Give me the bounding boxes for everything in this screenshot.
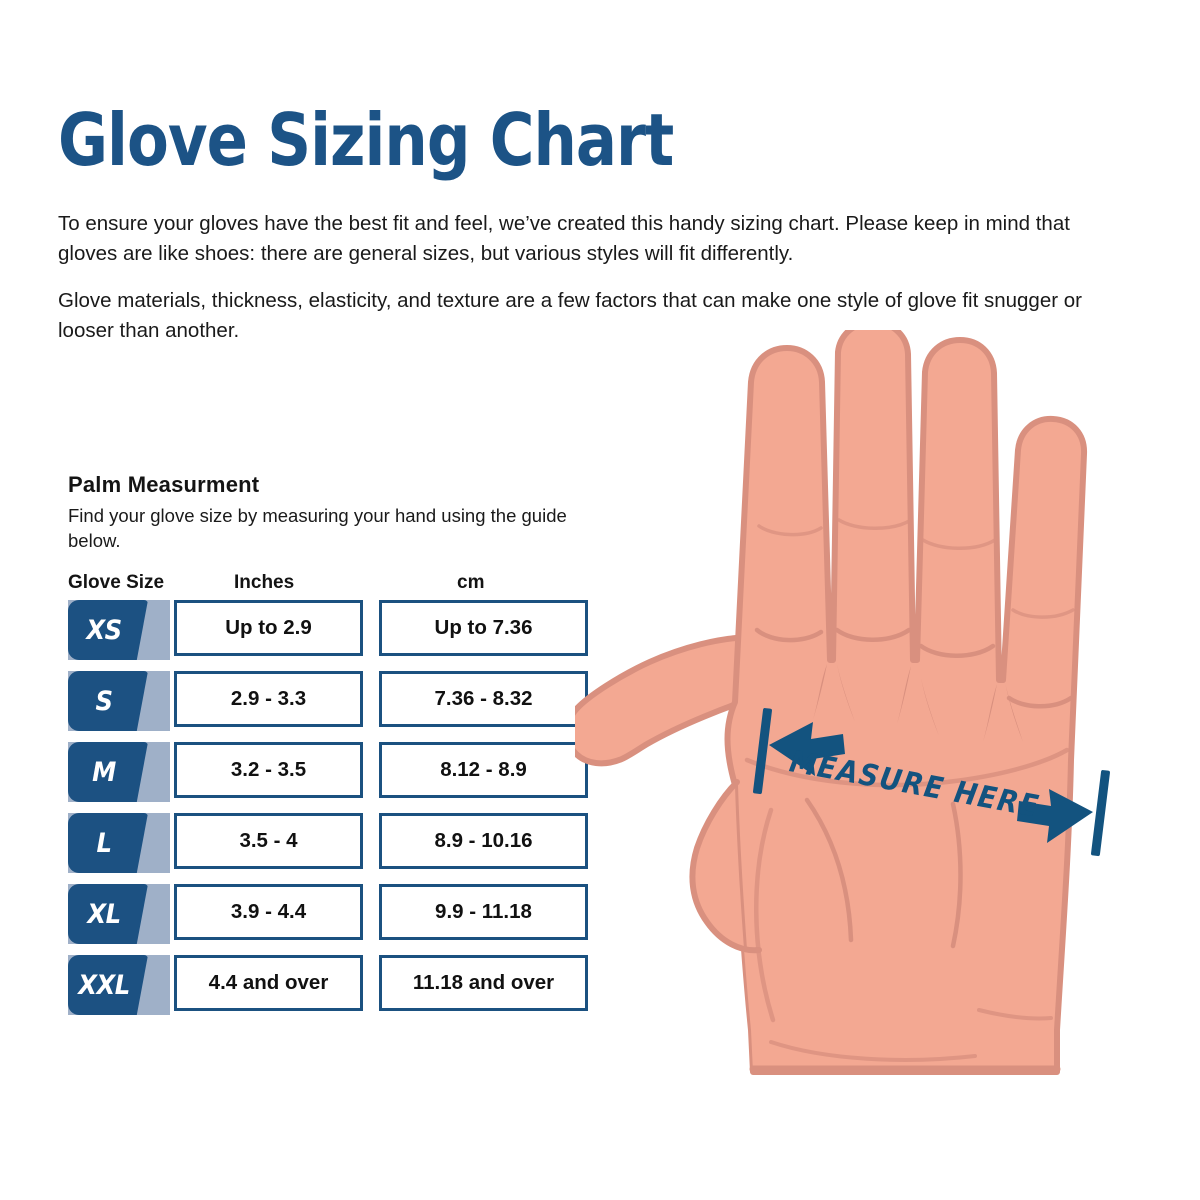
- size-badge: XS: [68, 600, 148, 660]
- cell-inches: 3.5 - 4: [174, 813, 363, 869]
- cell-cm: 7.36 - 8.32: [379, 671, 588, 727]
- size-badge: XXL: [68, 955, 148, 1015]
- size-badge: S: [68, 671, 148, 731]
- table-row: XXL 4.4 and over 11.18 and over: [68, 955, 588, 1015]
- hand-illustration: [575, 330, 1175, 1120]
- size-badge-label: XL: [68, 884, 140, 944]
- cell-inches: 3.2 - 3.5: [174, 742, 363, 798]
- table-column-headers: Glove Size Inches cm: [68, 572, 588, 600]
- size-badge-label: XXL: [68, 955, 140, 1015]
- sizing-table: Glove Size Inches cm XS Up to 2.9 Up to …: [68, 572, 588, 1026]
- cell-cm: 9.9 - 11.18: [379, 884, 588, 940]
- column-header-glove-size: Glove Size: [68, 572, 164, 594]
- cell-cm: 8.9 - 10.16: [379, 813, 588, 869]
- table-row: S 2.9 - 3.3 7.36 - 8.32: [68, 671, 588, 731]
- cell-cm: 8.12 - 8.9: [379, 742, 588, 798]
- cell-cm: Up to 7.36: [379, 600, 588, 656]
- measure-right-tick: [1091, 770, 1110, 856]
- palm-measurement-subtext: Find your glove size by measuring your h…: [68, 503, 578, 553]
- palm-and-fingers-shape: [728, 330, 1085, 1072]
- table-row: XL 3.9 - 4.4 9.9 - 11.18: [68, 884, 588, 944]
- size-badge-label: S: [68, 671, 140, 731]
- cell-cm: 11.18 and over: [379, 955, 588, 1011]
- column-header-cm: cm: [457, 572, 484, 594]
- page-title: Glove Sizing Chart: [58, 104, 673, 176]
- size-badge: L: [68, 813, 148, 873]
- intro-paragraph-1: To ensure your gloves have the best fit …: [58, 209, 1118, 269]
- cell-inches: 2.9 - 3.3: [174, 671, 363, 727]
- column-header-inches: Inches: [234, 572, 294, 594]
- cell-inches: Up to 2.9: [174, 600, 363, 656]
- size-badge: XL: [68, 884, 148, 944]
- table-row: L 3.5 - 4 8.9 - 10.16: [68, 813, 588, 873]
- cell-inches: 4.4 and over: [174, 955, 363, 1011]
- table-row: M 3.2 - 3.5 8.12 - 8.9: [68, 742, 588, 802]
- cell-inches: 3.9 - 4.4: [174, 884, 363, 940]
- size-badge-label: M: [68, 742, 140, 802]
- size-badge-label: XS: [68, 600, 140, 660]
- table-row: XS Up to 2.9 Up to 7.36: [68, 600, 588, 660]
- size-badge-label: L: [68, 813, 140, 873]
- palm-measurement-heading: Palm Measurment: [68, 472, 259, 498]
- size-badge: M: [68, 742, 148, 802]
- glove-sizing-chart-infographic: Glove Sizing Chart To ensure your gloves…: [0, 0, 1200, 1200]
